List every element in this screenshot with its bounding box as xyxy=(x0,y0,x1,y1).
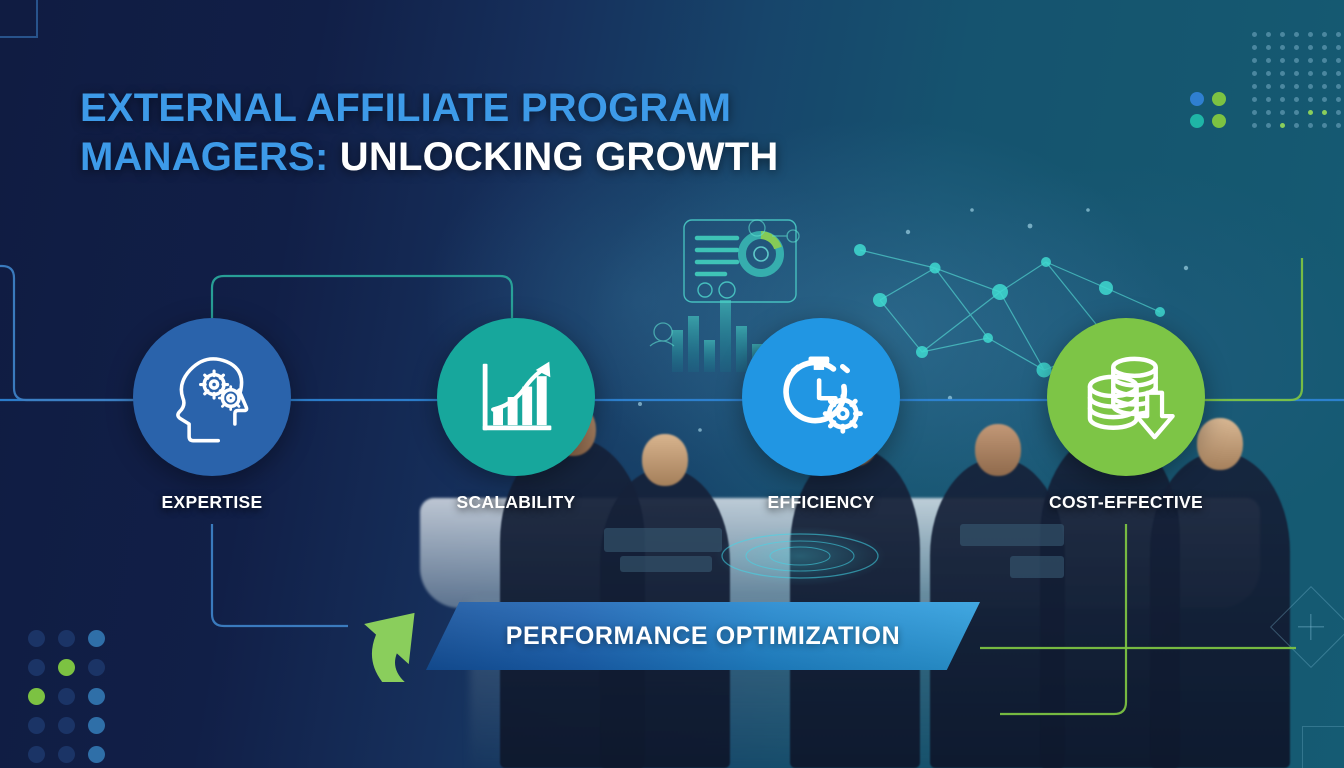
pillar-circle-expertise[interactable] xyxy=(133,318,291,476)
rectangle-outline-decoration xyxy=(1302,726,1344,768)
pillar-label-scalability: SCALABILITY xyxy=(457,492,576,513)
performance-optimization-banner[interactable]: PERFORMANCE OPTIMIZATION xyxy=(350,602,980,674)
pillar-label-cost-effective: COST-EFFECTIVE xyxy=(1049,492,1203,513)
pillar-circle-cost-effective[interactable] xyxy=(1047,318,1205,476)
stopwatch-gear-icon xyxy=(769,345,873,449)
page-title: EXTERNAL AFFILIATE PROGRAM MANAGERS: UNL… xyxy=(80,84,779,182)
coin-stack-down-arrow-icon xyxy=(1073,344,1179,450)
growth-bar-chart-arrow-icon xyxy=(464,345,568,449)
banner-label: PERFORMANCE OPTIMIZATION xyxy=(426,602,980,670)
dot-grid-decoration-bottom-left xyxy=(22,624,112,768)
pillar-label-efficiency: EFFICIENCY xyxy=(767,492,874,513)
dot-cluster-decoration-top-right xyxy=(1186,88,1230,132)
pillar-label-expertise: EXPERTISE xyxy=(162,492,263,513)
title-line-1: EXTERNAL AFFILIATE PROGRAM xyxy=(80,84,779,133)
title-plain-words: UNLOCKING GROWTH xyxy=(340,135,779,179)
title-accent-word: MANAGERS xyxy=(80,135,315,179)
square-outline-decoration xyxy=(0,0,38,38)
title-line-2: MANAGERS: UNLOCKING GROWTH xyxy=(80,133,779,182)
head-with-gears-icon xyxy=(160,345,264,449)
pillar-circle-scalability[interactable] xyxy=(437,318,595,476)
dot-grid-decoration-top-right xyxy=(1248,28,1344,132)
title-separator: : xyxy=(315,135,340,179)
pillar-circle-efficiency[interactable] xyxy=(742,318,900,476)
infographic-canvas: EXTERNAL AFFILIATE PROGRAM MANAGERS: UNL… xyxy=(0,0,1344,768)
